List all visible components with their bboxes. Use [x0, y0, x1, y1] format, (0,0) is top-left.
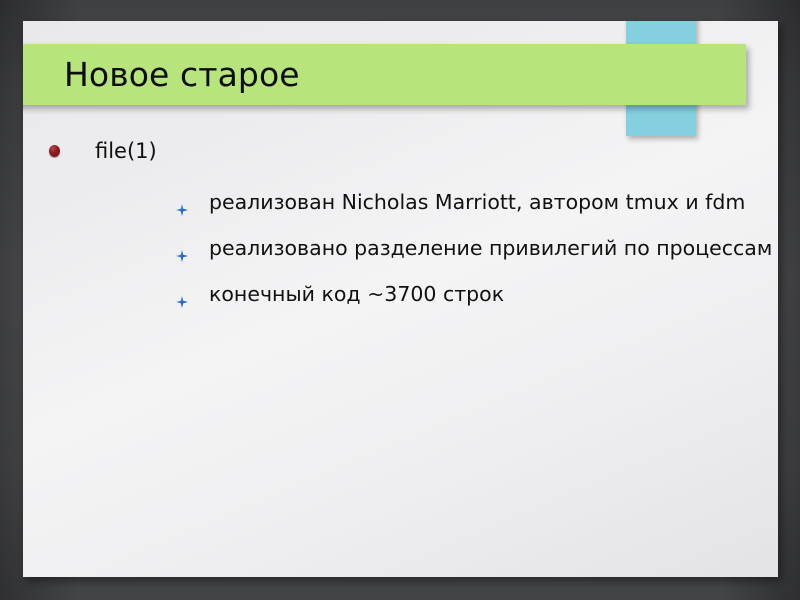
- list-item: конечный код ~3700 строк: [95, 271, 778, 317]
- four-point-star-icon: [176, 288, 188, 300]
- title-banner-fold-icon: [23, 105, 24, 116]
- round-dot-icon: [49, 145, 60, 157]
- accent-band-fold-icon: [626, 21, 637, 22]
- title-banner: Новое старое: [23, 44, 746, 105]
- bullet-list-level-1: file(1): [23, 137, 778, 317]
- bullet-list-level-2: реализован Nicholas Marriott, автором tm…: [95, 179, 778, 317]
- slide-body: file(1): [23, 137, 778, 323]
- list-item-label: реализовано разделение привилегий по про…: [209, 235, 772, 261]
- slide-canvas: Новое старое file(1): [23, 21, 778, 577]
- list-item-label: конечный код ~3700 строк: [209, 281, 504, 307]
- page-title: Новое старое: [23, 58, 300, 91]
- presentation-frame: Новое старое file(1): [0, 0, 800, 600]
- four-point-star-icon: [176, 242, 188, 254]
- list-item-label: file(1): [95, 139, 157, 163]
- list-item: реализован Nicholas Marriott, автором tm…: [95, 179, 778, 225]
- list-item: file(1): [23, 137, 778, 317]
- list-item-label: реализован Nicholas Marriott, автором tm…: [209, 189, 745, 215]
- four-point-star-icon: [176, 196, 188, 208]
- list-item: реализовано разделение привилегий по про…: [95, 225, 778, 271]
